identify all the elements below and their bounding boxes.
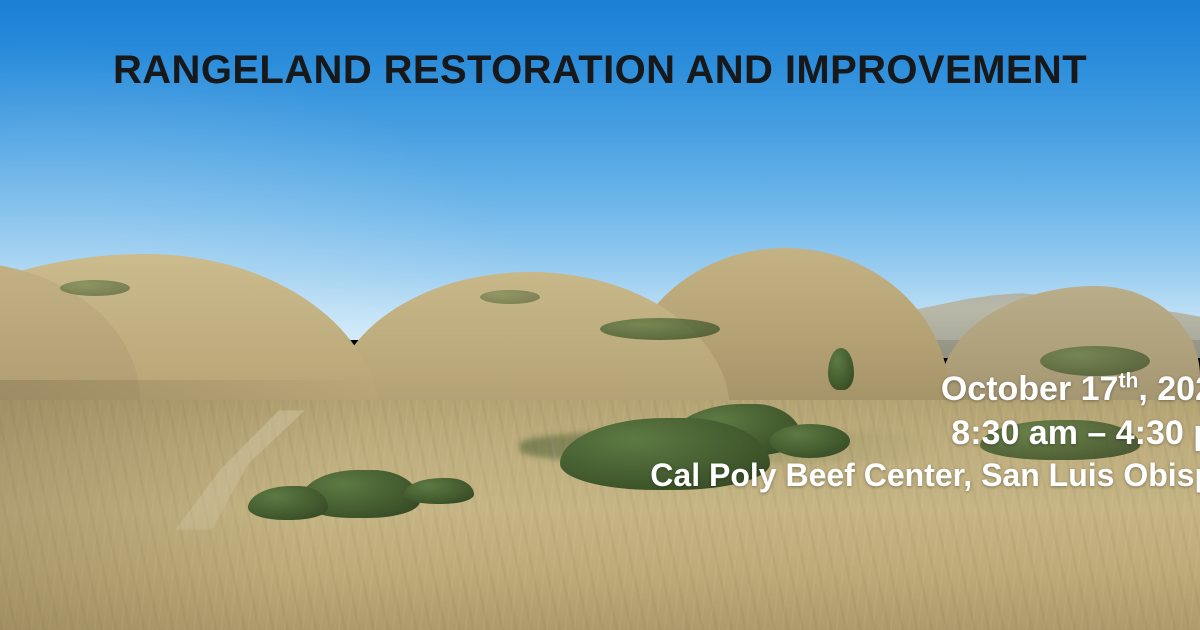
event-date: October 17th, 202 xyxy=(454,368,1200,412)
event-venue: Cal Poly Beef Center, San Luis Obisp xyxy=(454,455,1200,496)
shrub-left-horizon xyxy=(60,280,130,296)
event-date-prefix: October 17 xyxy=(941,370,1119,408)
event-time: 8:30 am – 4:30 p xyxy=(454,412,1200,456)
shrub-center-horizon xyxy=(480,290,540,304)
event-date-suffix: , 202 xyxy=(1138,370,1200,408)
event-details: October 17th, 202 8:30 am – 4:30 p Cal P… xyxy=(454,368,1200,496)
event-poster: RANGELAND RESTORATION AND IMPROVEMENT Oc… xyxy=(0,0,1200,630)
poster-title: RANGELAND RESTORATION AND IMPROVEMENT xyxy=(0,48,1200,93)
event-date-ordinal: th xyxy=(1118,370,1138,393)
shrub-ridge-far xyxy=(600,318,720,340)
